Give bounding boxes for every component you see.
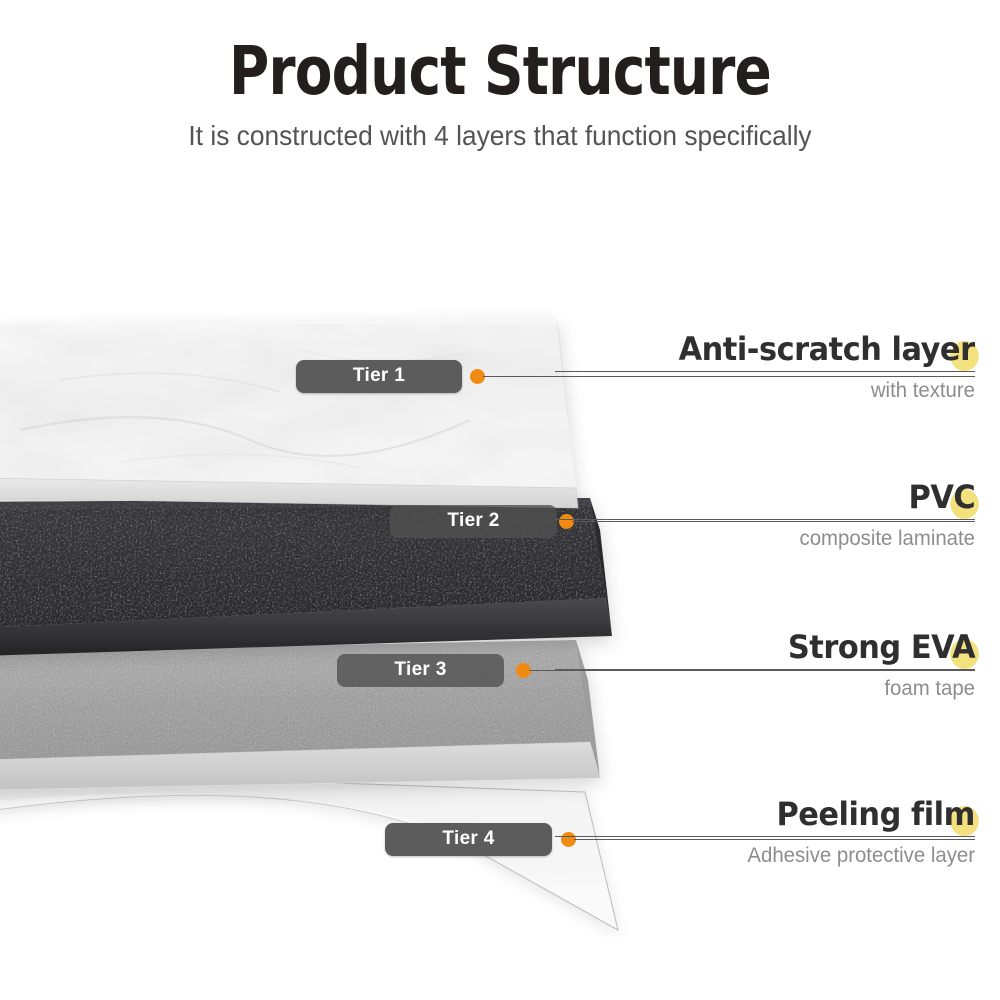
callout-1-heading: Anti-scratch layer bbox=[679, 330, 975, 368]
callout-rule bbox=[555, 669, 975, 670]
tier-badge-4-label: Tier 4 bbox=[442, 828, 494, 850]
callout-rule bbox=[555, 519, 975, 520]
tier-badge-3[interactable]: Tier 3 bbox=[337, 654, 504, 687]
tier-badge-1-label: Tier 1 bbox=[353, 365, 405, 387]
tier-badge-4[interactable]: Tier 4 bbox=[385, 823, 552, 856]
callout-1-sub: with texture bbox=[568, 379, 975, 403]
tier-badge-3-label: Tier 3 bbox=[394, 659, 446, 681]
callout-3: Strong EVA foam tape bbox=[555, 628, 975, 701]
callout-4-heading: Peeling film bbox=[777, 795, 975, 833]
callout-4: Peeling film Adhesive protective layer bbox=[555, 795, 975, 868]
callout-2-heading: PVC bbox=[908, 478, 975, 516]
callout-3-heading: Strong EVA bbox=[788, 628, 975, 666]
tier-badge-2-label: Tier 2 bbox=[447, 510, 499, 532]
product-structure-infographic: Product Structure It is constructed with… bbox=[0, 0, 1000, 1000]
layer-shape-tier3 bbox=[0, 640, 600, 790]
callout-2-sub: composite laminate bbox=[568, 527, 975, 551]
layer-shape-tier1 bbox=[0, 318, 578, 508]
tier-badge-1[interactable]: Tier 1 bbox=[296, 360, 462, 393]
callout-4-sub: Adhesive protective layer bbox=[568, 844, 975, 868]
callout-rule bbox=[555, 836, 975, 837]
callout-2: PVC composite laminate bbox=[555, 478, 975, 551]
callout-rule bbox=[555, 371, 975, 372]
callout-1: Anti-scratch layer with texture bbox=[555, 330, 975, 403]
tier-badge-2[interactable]: Tier 2 bbox=[390, 505, 557, 538]
callout-3-sub: foam tape bbox=[568, 677, 975, 701]
